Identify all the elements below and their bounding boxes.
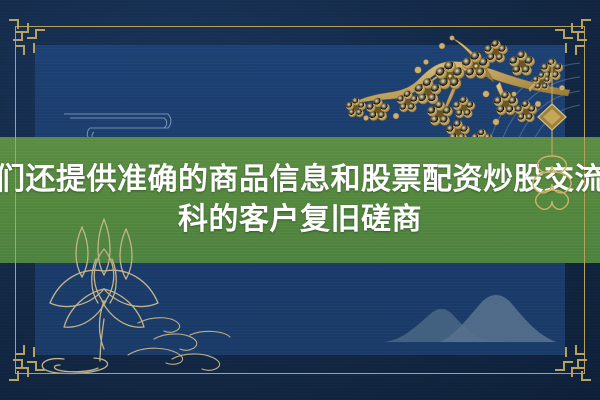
banner-headline: 咱们还提供准确的商品信息和股票配资炒股交流专 科的客户复旧磋商	[0, 137, 600, 263]
banner-image: 咱们还提供准确的商品信息和股票配资炒股交流专 科的客户复旧磋商	[0, 0, 600, 400]
headline-line-2: 科的客户复旧磋商	[178, 200, 422, 240]
headline-line-1: 咱们还提供准确的商品信息和股票配资炒股交流专	[0, 160, 600, 200]
